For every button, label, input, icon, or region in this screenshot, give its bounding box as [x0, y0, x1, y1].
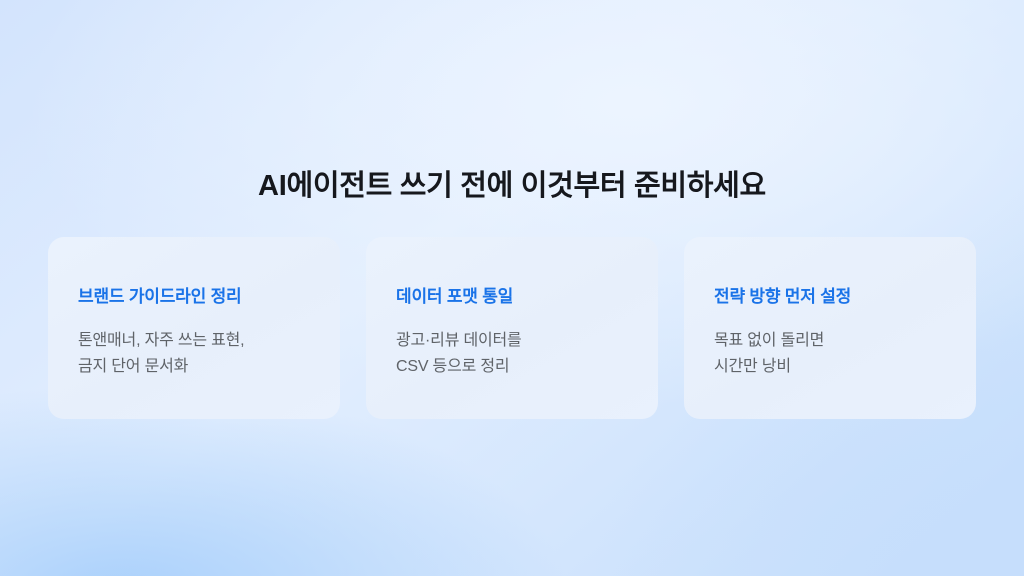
card-body-line: CSV 등으로 정리 [396, 354, 640, 380]
card-body-line: 목표 없이 돌리면 [714, 328, 958, 354]
card-brand-guideline: 브랜드 가이드라인 정리 톤앤매너, 자주 쓰는 표현, 금지 단어 문서화 [48, 237, 340, 419]
card-strategy-direction: 전략 방향 먼저 설정 목표 없이 돌리면 시간만 낭비 [684, 237, 976, 419]
card-body-line: 시간만 낭비 [714, 354, 958, 380]
card-body: 광고·리뷰 데이터를 CSV 등으로 정리 [396, 328, 640, 380]
card-data-format: 데이터 포맷 통일 광고·리뷰 데이터를 CSV 등으로 정리 [366, 237, 658, 419]
card-heading: 전략 방향 먼저 설정 [714, 286, 954, 308]
card-body: 목표 없이 돌리면 시간만 낭비 [714, 328, 958, 380]
card-body-line: 금지 단어 문서화 [78, 354, 322, 380]
card-heading: 데이터 포맷 통일 [396, 286, 636, 308]
card-row: 브랜드 가이드라인 정리 톤앤매너, 자주 쓰는 표현, 금지 단어 문서화 데… [48, 237, 976, 419]
card-body-line: 톤앤매너, 자주 쓰는 표현, [78, 328, 322, 354]
card-body: 톤앤매너, 자주 쓰는 표현, 금지 단어 문서화 [78, 328, 322, 380]
card-heading: 브랜드 가이드라인 정리 [78, 286, 318, 308]
card-body-line: 광고·리뷰 데이터를 [396, 328, 640, 354]
page-title: AI에이전트 쓰기 전에 이것부터 준비하세요 [0, 166, 1024, 206]
slide-canvas: AI에이전트 쓰기 전에 이것부터 준비하세요 브랜드 가이드라인 정리 톤앤매… [0, 0, 1024, 576]
